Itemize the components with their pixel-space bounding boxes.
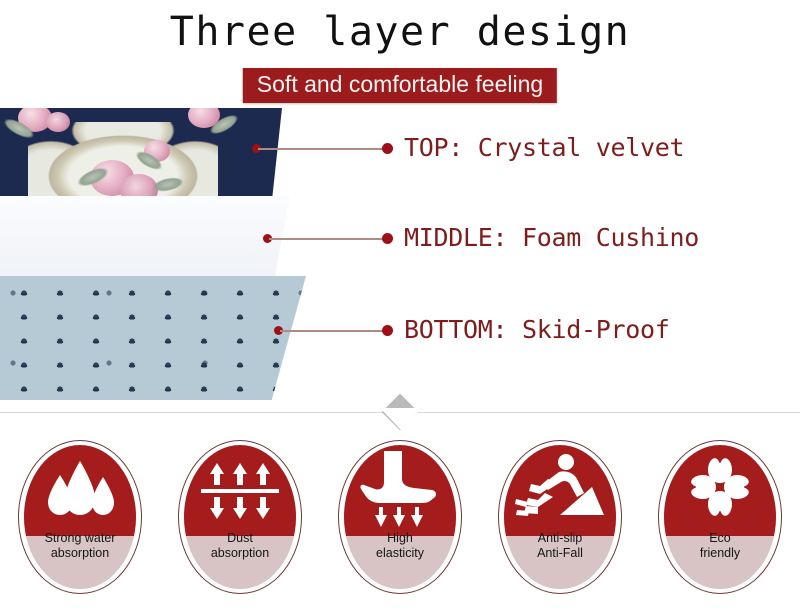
- hotspot-label-top: [382, 143, 393, 154]
- feature-badge-high-elasticity[interactable]: High elasticity: [332, 440, 468, 600]
- section-divider: [0, 404, 800, 440]
- hotspot-label-bottom: [382, 325, 393, 336]
- up-down-arrows-icon: [184, 445, 296, 537]
- feature-badge-strong-water-absorption[interactable]: Strong water absorption: [12, 440, 148, 600]
- callout-bottom: BOTTOM: Skid-Proof: [404, 315, 670, 345]
- feature-badge-eco-friendly[interactable]: Eco friendly: [652, 440, 788, 600]
- badge-body: High elasticity: [344, 445, 456, 589]
- badge-label: High elasticity: [344, 531, 456, 561]
- subtitle-text: Soft and comfortable feeling: [257, 71, 543, 98]
- leader-line-top: [258, 148, 388, 150]
- page-title: Three layer design: [0, 4, 800, 60]
- badge-body: Strong water absorption: [24, 445, 136, 589]
- hotspot-label-middle: [382, 233, 393, 244]
- slipping-person-icon: [504, 445, 616, 537]
- badge-body: Dust absorption: [184, 445, 296, 589]
- feature-badge-dust-absorption[interactable]: Dust absorption: [172, 440, 308, 600]
- leader-line-bottom: [280, 330, 388, 332]
- badge-label: Eco friendly: [664, 531, 776, 561]
- badge-label: Anti-slip Anti-Fall: [504, 531, 616, 561]
- subtitle-banner: Soft and comfortable feeling: [243, 68, 557, 103]
- header: Three layer design Soft and comfortable …: [0, 0, 800, 108]
- badge-body: Anti-slip Anti-Fall: [504, 445, 616, 589]
- badge-label: Strong water absorption: [24, 531, 136, 561]
- leader-line-middle: [269, 238, 388, 240]
- four-petal-flower-icon: [664, 445, 776, 537]
- callout-middle: MIDDLE: Foam Cushino: [404, 223, 699, 253]
- water-droplets-icon: [24, 445, 136, 537]
- feature-badge-anti-slip-anti-fall[interactable]: Anti-slip Anti-Fall: [492, 440, 628, 600]
- layer-slab-bottom: [0, 276, 306, 400]
- carpet-rose: [46, 112, 70, 132]
- divider-chevron-icon: [380, 408, 422, 430]
- callout-top: TOP: Crystal velvet: [404, 133, 684, 163]
- foot-with-arrows-icon: [344, 445, 456, 537]
- badge-label: Dust absorption: [184, 531, 296, 561]
- feature-badge-row: Strong water absorption Dust absorption: [0, 440, 800, 614]
- badge-body: Eco friendly: [664, 445, 776, 589]
- skid-proof-star-pattern: [0, 276, 306, 400]
